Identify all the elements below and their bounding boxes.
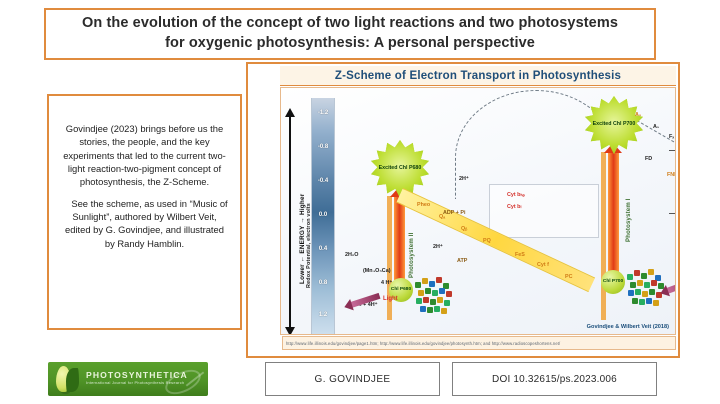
label-2h2o: 2H₂O bbox=[345, 252, 358, 258]
label-pc: PC bbox=[565, 274, 573, 280]
slide-canvas: On the evolution of the concept of two l… bbox=[0, 0, 720, 404]
excited-chl-p680-label: Excited Chl P680 bbox=[379, 166, 422, 172]
photosystem-2-label: Photosystem II bbox=[409, 233, 415, 278]
title-line-1: On the evolution of the concept of two l… bbox=[82, 15, 618, 31]
label-fes: FeS bbox=[515, 252, 525, 258]
label-atp: ATP bbox=[457, 258, 467, 264]
axis-tick-2: -0.4 bbox=[312, 178, 334, 184]
figure-frame: Z-Scheme of Electron Transport in Photos… bbox=[246, 62, 680, 358]
label-2h-plus-bottom: 2H⁺ bbox=[433, 244, 443, 250]
label-pheo: Pheo bbox=[417, 202, 430, 208]
psii-excitation-arrow bbox=[394, 196, 405, 280]
electron-transfer-arc bbox=[455, 90, 617, 199]
z-scheme-plot: Photosystem II Photosystem I Excited Chl… bbox=[337, 92, 673, 320]
label-cyt-f: Cyt f bbox=[537, 262, 549, 268]
psi-excitation-arrow bbox=[608, 152, 619, 284]
chl-p680-label: Chl P680 bbox=[391, 287, 411, 292]
caption-box: Govindjee (2023) brings before us the st… bbox=[47, 94, 242, 330]
label-qb: Qᵦ bbox=[461, 226, 467, 232]
chl-p700-circle: Chl P700 bbox=[601, 270, 625, 294]
nadph-bracket bbox=[669, 150, 676, 214]
figure-credit: Govindjee & Wilbert Veit (2018) bbox=[587, 324, 669, 330]
chl-p700-label: Chl P700 bbox=[603, 279, 623, 284]
excited-chl-p680-starburst: Excited Chl P680 bbox=[371, 140, 429, 198]
label-a0: A₀ bbox=[635, 112, 641, 118]
figure-url-text: http://www.life.illinois.edu/govindjee/p… bbox=[283, 341, 560, 346]
leaf-shadow-icon bbox=[66, 368, 79, 392]
doi-box[interactable]: DOI 10.32615/ps.2023.006 bbox=[452, 362, 657, 396]
axis-tick-5: 0.8 bbox=[312, 280, 334, 286]
axis-tick-1: -0.8 bbox=[312, 144, 334, 150]
page-title: On the evolution of the concept of two l… bbox=[72, 14, 628, 53]
energy-axis-label: Lower ← ENERGY → Higher bbox=[299, 194, 306, 284]
figure-header-text: Z-Scheme of Electron Transport in Photos… bbox=[335, 70, 621, 82]
photosystem-1-label: Photosystem I bbox=[626, 198, 632, 242]
psi-column-band bbox=[601, 152, 606, 320]
label-cyt-bl: Cyt bₗ bbox=[507, 204, 521, 210]
label-adp-pi: ADP + Pi bbox=[443, 210, 466, 216]
label-2h-plus-top: 2H⁺ bbox=[459, 176, 469, 182]
label-fd: FD bbox=[645, 156, 652, 162]
label-cyt-bh: Cyt bₕₚ bbox=[507, 192, 525, 198]
doi-text: DOI 10.32615/ps.2023.006 bbox=[492, 374, 617, 385]
psii-antenna-complex bbox=[413, 276, 455, 316]
caption-paragraph-1: Govindjee (2023) brings before us the st… bbox=[61, 122, 228, 189]
axis-tick-3: 0.0 bbox=[312, 212, 334, 218]
author-name: G. GOVINDJEE bbox=[315, 374, 391, 385]
axis-tick-4: 0.4 bbox=[312, 246, 334, 252]
label-oec: (Mn₄O₅Ca) bbox=[363, 268, 391, 274]
photosynthetica-logo[interactable]: PHOTOSYNTHETICA International Journal fo… bbox=[48, 362, 208, 396]
figure-url-bar[interactable]: http://www.life.illinois.edu/govindjee/p… bbox=[282, 336, 676, 350]
slide-title-box: On the evolution of the concept of two l… bbox=[44, 8, 656, 60]
axis-tick-6: 1.2 bbox=[312, 312, 334, 318]
energy-axis-arrow bbox=[289, 116, 291, 328]
label-fx: Fₓ bbox=[669, 134, 674, 140]
title-line-2: for oxygenic photosynthesis: A personal … bbox=[165, 35, 535, 51]
light-arrow-right bbox=[666, 277, 676, 294]
caption-paragraph-2: See the scheme, as used in “Music of Sun… bbox=[61, 197, 228, 250]
label-a1: A₁ bbox=[653, 124, 659, 130]
label-pq: PQ bbox=[483, 238, 491, 244]
z-scheme-diagram: Lower ← ENERGY → Higher Redox Potential,… bbox=[280, 87, 676, 335]
axis-tick-0: -1.2 bbox=[312, 110, 334, 116]
cytochrome-b6f-box bbox=[489, 184, 599, 238]
excited-chl-p700-label: Excited Chl P700 bbox=[593, 122, 636, 128]
author-box: G. GOVINDJEE bbox=[265, 362, 440, 396]
light-label-left: Light bbox=[383, 296, 398, 302]
figure-header: Z-Scheme of Electron Transport in Photos… bbox=[280, 66, 676, 86]
